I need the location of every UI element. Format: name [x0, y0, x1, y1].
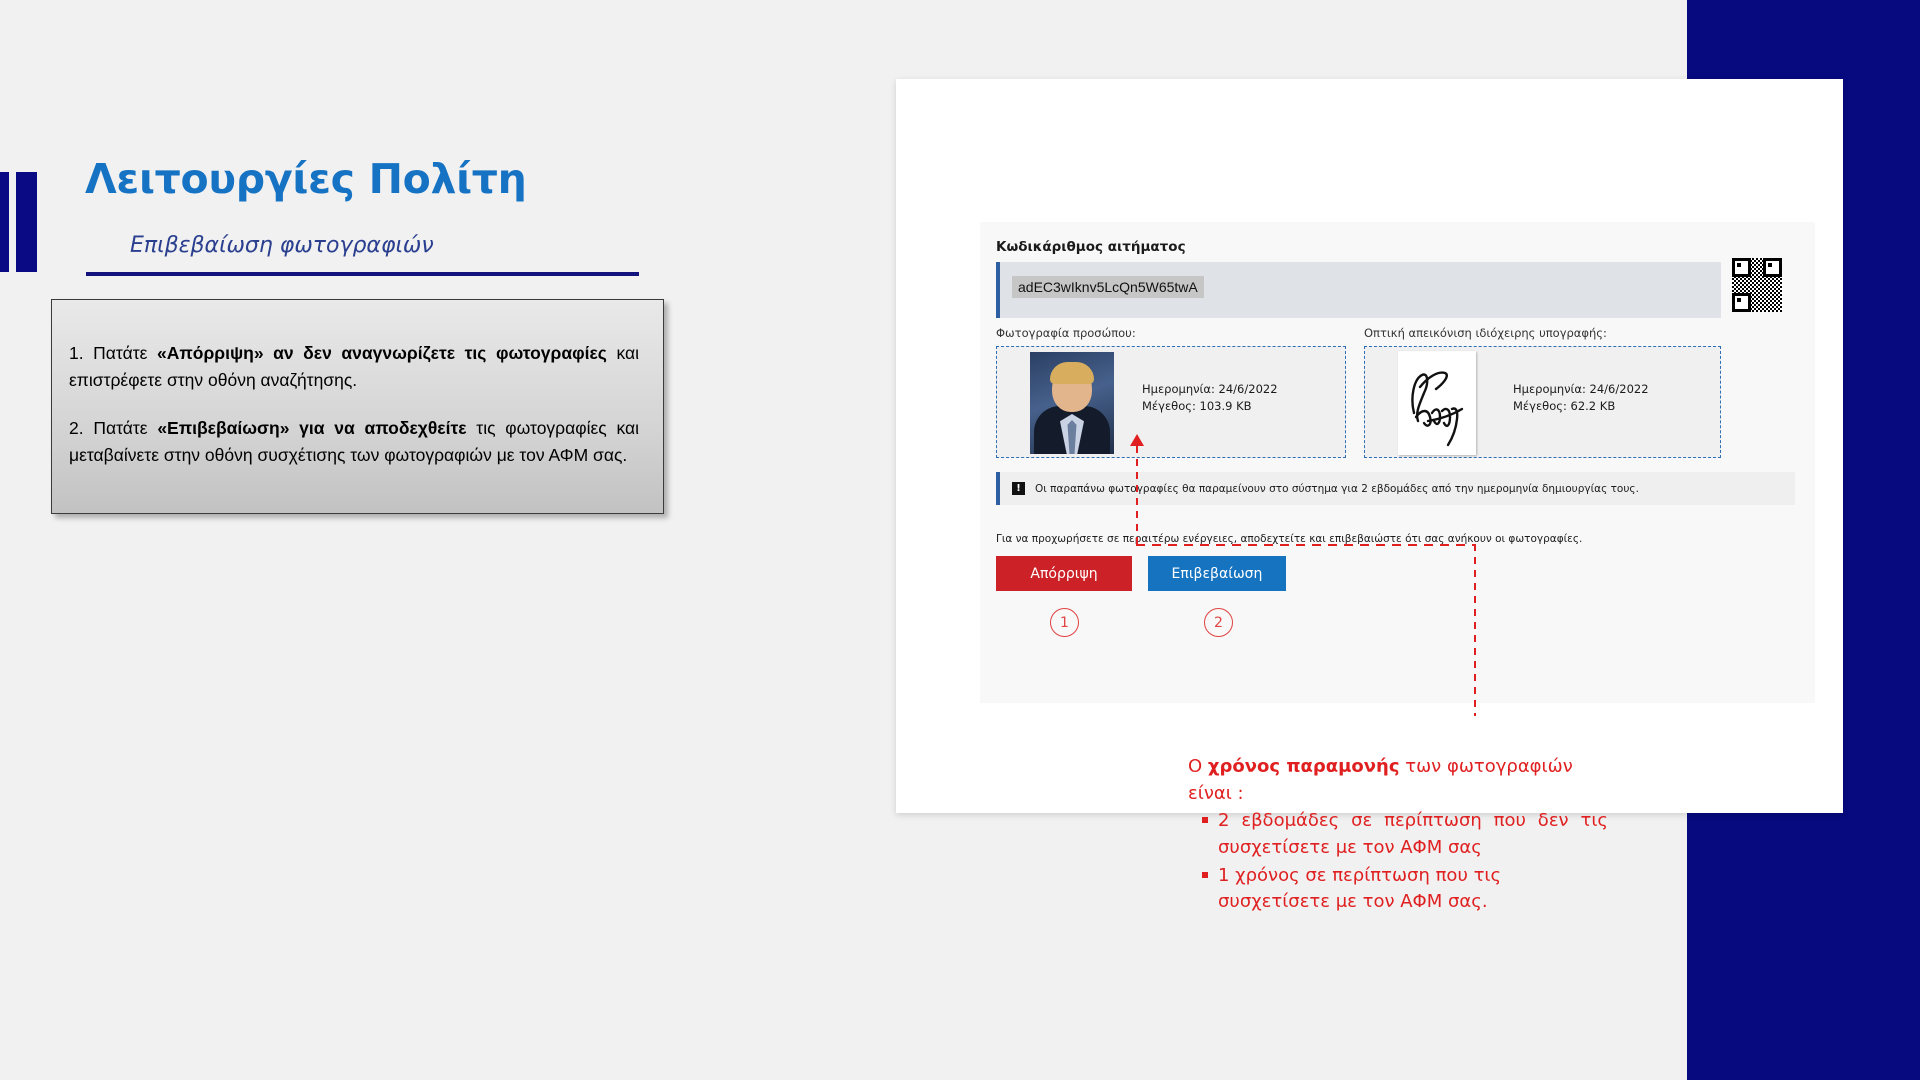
qr-code-icon: [1732, 258, 1782, 312]
signature-strokes: [1398, 351, 1476, 455]
annotation-bullet-list: 2 εβδομάδες σε περίπτωση που δεν τις συσ…: [1188, 808, 1608, 916]
retention-annotation: Ο χρόνος παραμονής των φωτογραφιών είναι…: [1188, 754, 1608, 917]
request-code-row: adEC3wIknv5LcQn5W65twA: [996, 262, 1721, 318]
qr-eye-tr: [1763, 258, 1782, 277]
reject-button[interactable]: Απόρριψη: [996, 556, 1132, 591]
info-banner-text: Οι παραπάνω φωτογραφίες θα παραμείνουν σ…: [1035, 483, 1639, 495]
step2-prefix: 2. Πατάτε: [69, 418, 157, 438]
instruction-step-1: 1. Πατάτε «Απόρριψη» αν δεν αναγνωρίζετε…: [69, 340, 639, 393]
callout-line-vertical-lower: [1474, 544, 1476, 716]
callout-number-1: 1: [1050, 608, 1079, 637]
face-photo-panel: Ημερομηνία: 24/6/2022 Μέγεθος: 103.9 KB: [996, 346, 1346, 458]
qr-eye-bl: [1732, 293, 1751, 312]
subtitle-divider: [86, 272, 639, 276]
face-hair: [1050, 362, 1094, 384]
confirm-button[interactable]: Επιβεβαίωση: [1148, 556, 1286, 591]
signature-photo-panel: Ημερομηνία: 24/6/2022 Μέγεθος: 62.2 KB: [1364, 346, 1721, 458]
signature-meta: Ημερομηνία: 24/6/2022 Μέγεθος: 62.2 KB: [1513, 381, 1649, 414]
app-surface: Κωδικάριθμος αιτήματος adEC3wIknv5LcQn5W…: [980, 222, 1815, 703]
callout-line-vertical-upper: [1136, 446, 1138, 546]
face-photo-date: Ημερομηνία: 24/6/2022: [1142, 381, 1278, 398]
signature-date: Ημερομηνία: 24/6/2022: [1513, 381, 1649, 398]
callout-line-horizontal: [1136, 544, 1476, 546]
face-photo-meta: Ημερομηνία: 24/6/2022 Μέγεθος: 103.9 KB: [1142, 381, 1278, 414]
signature-image: [1398, 351, 1476, 455]
request-code-value[interactable]: adEC3wIknv5LcQn5W65twA: [1012, 276, 1204, 298]
step1-prefix: 1. Πατάτε: [69, 343, 157, 363]
title-accent-bars: [0, 172, 37, 272]
exclamation-icon: !: [1012, 482, 1025, 495]
callout-number-2: 2: [1204, 608, 1233, 637]
qr-eye-tl: [1732, 258, 1751, 277]
annotation-head-bold: χρόνος παραμονής: [1208, 756, 1400, 777]
step2-bold: «Επιβεβαίωση» για να αποδεχθείτε: [157, 418, 466, 438]
page-subtitle: Επιβεβαίωση φωτογραφιών: [130, 233, 434, 258]
face-panel-label: Φωτογραφία προσώπου:: [996, 326, 1136, 340]
accent-bar-thin: [0, 172, 9, 272]
section-title: Κωδικάριθμος αιτήματος: [996, 239, 1186, 255]
step1-bold: «Απόρριψη» αν δεν αναγνωρίζετε τις φωτογ…: [157, 343, 607, 363]
face-photo-image: [1030, 352, 1114, 454]
info-banner: ! Οι παραπάνω φωτογραφίες θα παραμείνουν…: [996, 472, 1795, 505]
signature-size: Μέγεθος: 62.2 KB: [1513, 398, 1649, 415]
annotation-bullet-1: 2 εβδομάδες σε περίπτωση που δεν τις συσ…: [1202, 808, 1608, 861]
callout-arrow-head: [1130, 434, 1144, 446]
face-photo-size: Μέγεθος: 103.9 KB: [1142, 398, 1278, 415]
instruction-step-2: 2. Πατάτε «Επιβεβαίωση» για να αποδεχθεί…: [69, 415, 639, 468]
accent-bar-thick: [16, 172, 37, 272]
annotation-bullet-2: 1 χρόνος σε περίπτωση που τις συσχετίσετ…: [1202, 863, 1608, 916]
annotation-heading: Ο χρόνος παραμονής των φωτογραφιών είναι…: [1188, 754, 1608, 807]
page-title: Λειτουργίες Πολίτη: [85, 155, 527, 203]
instruction-box: 1. Πατάτε «Απόρριψη» αν δεν αναγνωρίζετε…: [51, 299, 664, 514]
annotation-head-prefix: Ο: [1188, 756, 1208, 777]
signature-panel-label: Οπτική απεικόνιση ιδιόχειρης υπογραφής:: [1364, 326, 1607, 340]
